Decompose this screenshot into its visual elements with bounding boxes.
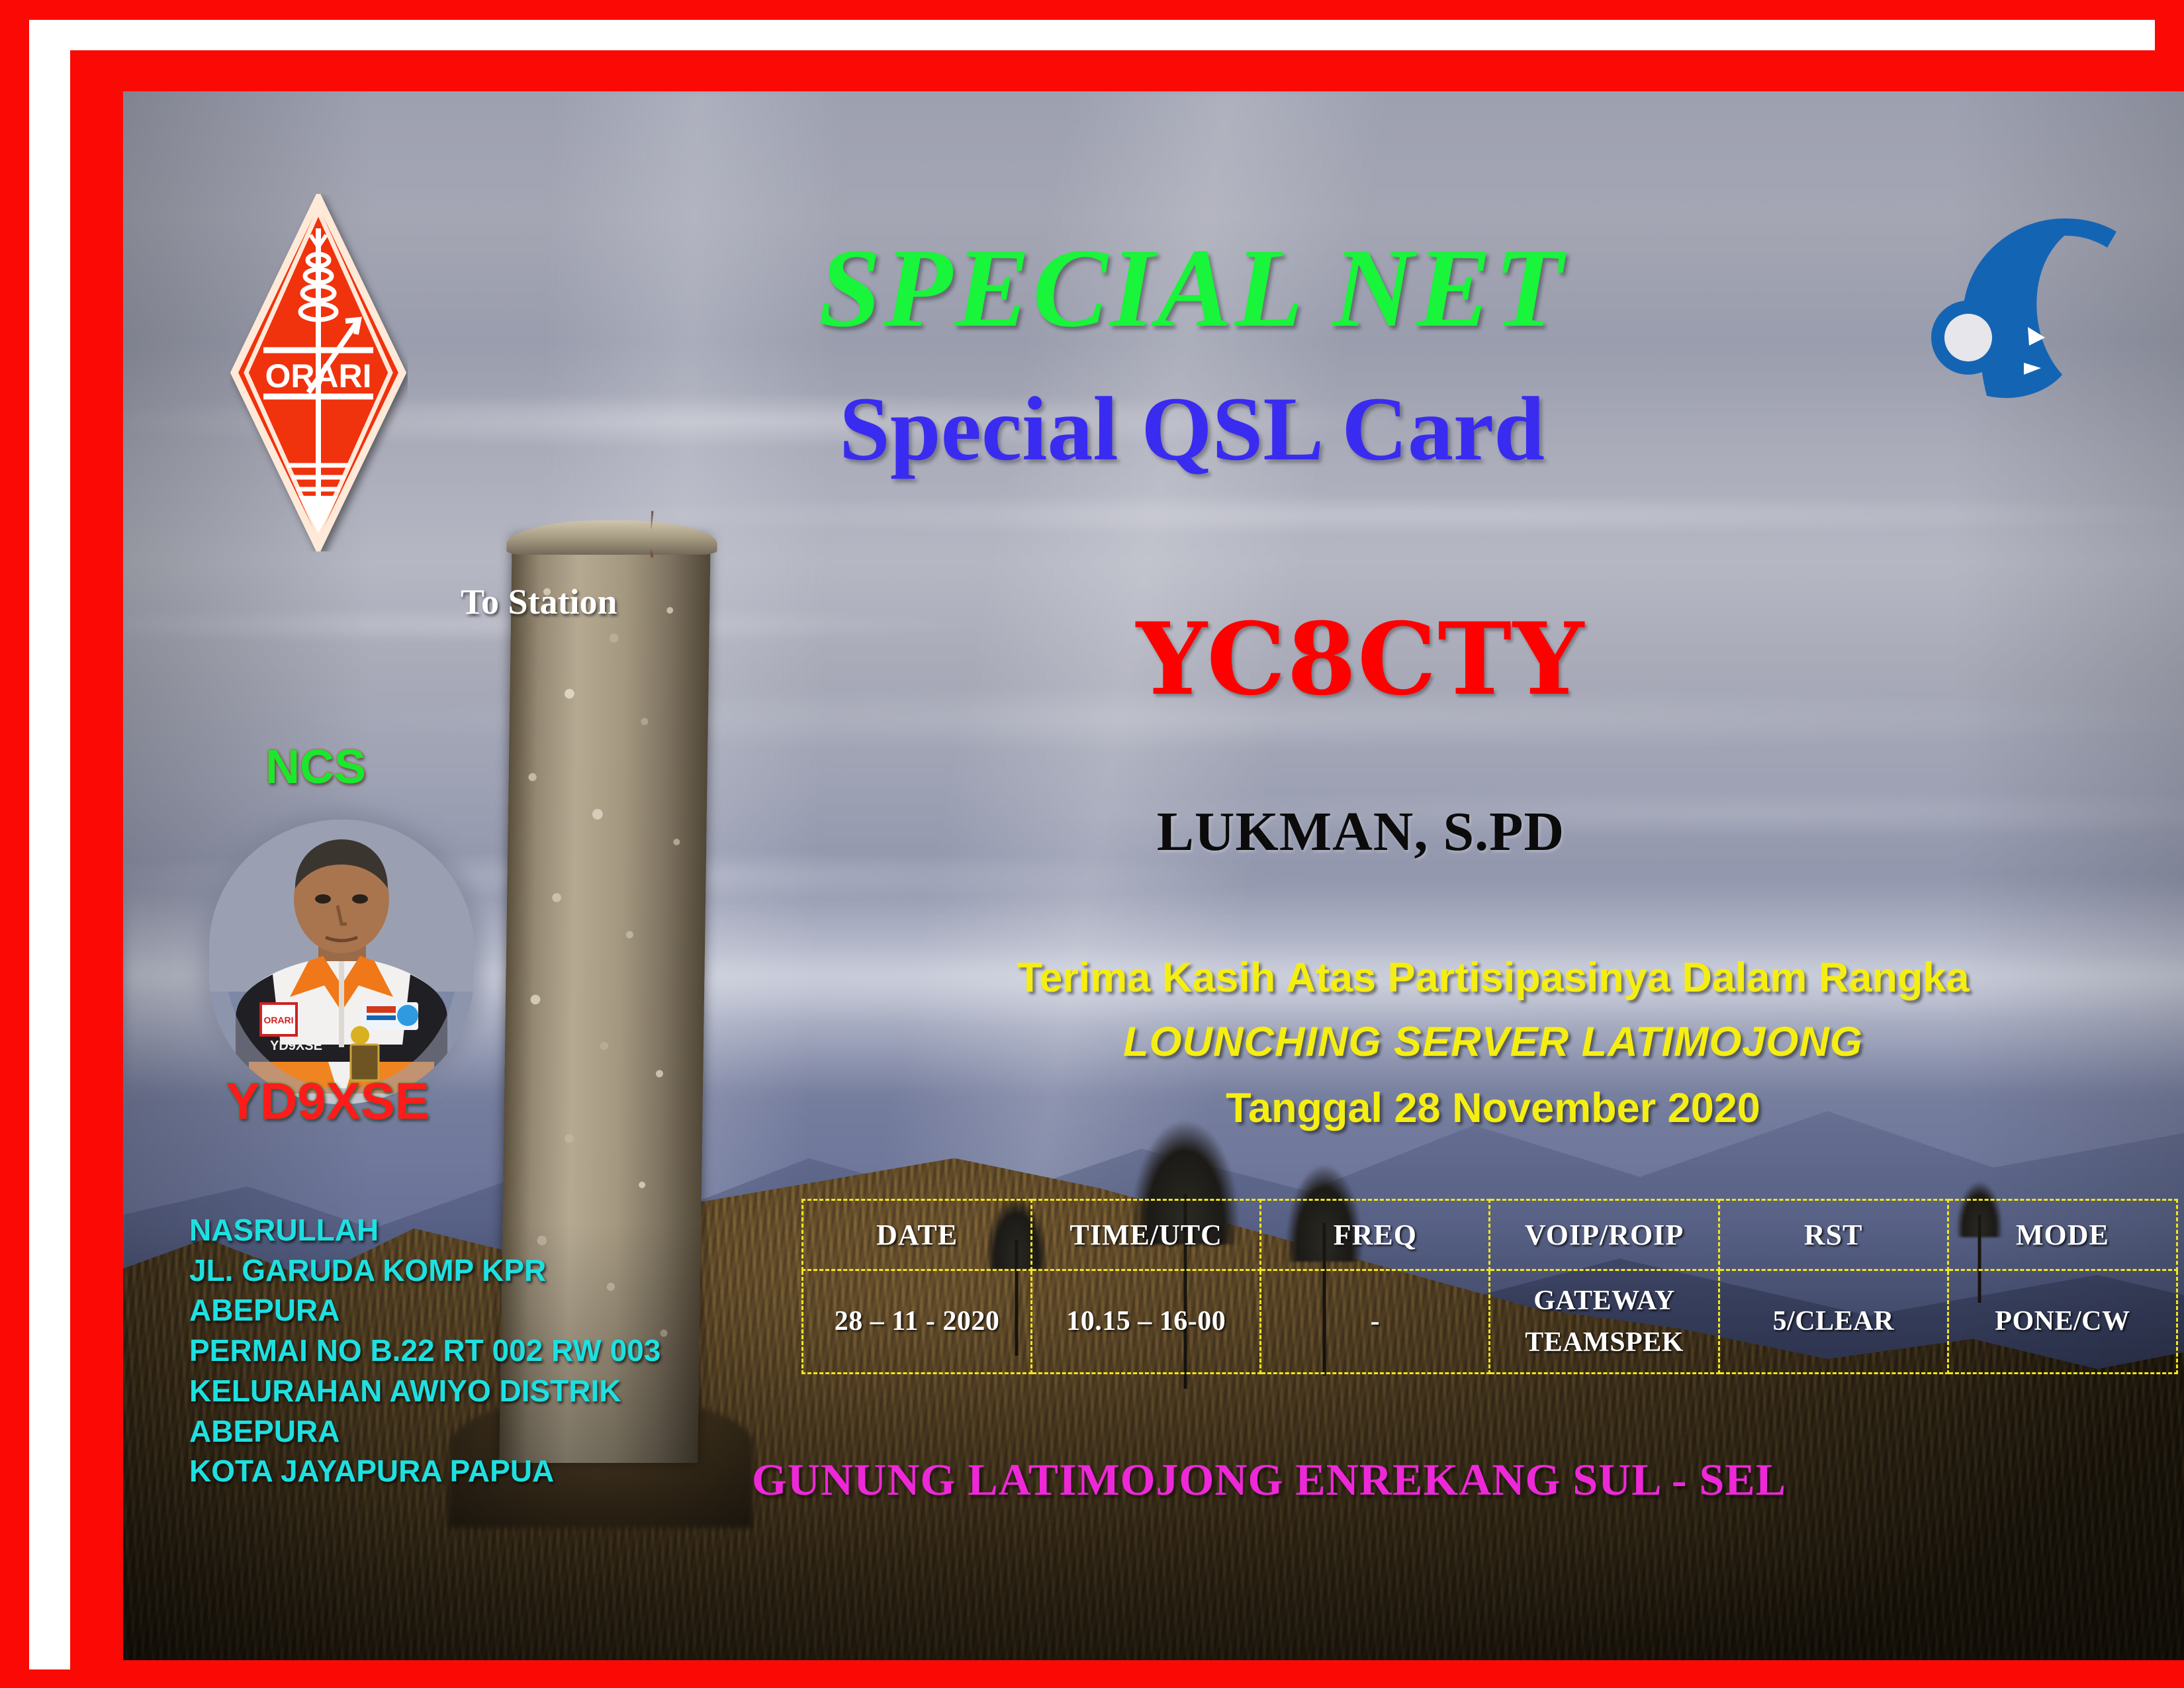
frame-white-gap: ORARI (29, 20, 2155, 1669)
address-line: JL. GARUDA KOMP KPR (189, 1250, 660, 1291)
cell-date: 28 – 11 - 2020 (803, 1270, 1032, 1374)
column-header-rst: RST (1719, 1200, 1948, 1270)
thanks-line-2: LOUNCHING SERVER LATIMOJONG (864, 1018, 2122, 1066)
address-line: PERMAI NO B.22 RT 002 RW 003 (189, 1331, 660, 1371)
shirt-callsign-badge: YD9XSE (270, 1039, 322, 1053)
svg-text:ORARI: ORARI (263, 1015, 293, 1025)
orari-logo: ORARI (229, 194, 408, 551)
cell-rst: 5/CLEAR (1719, 1270, 1948, 1374)
headset-profile-logo (1923, 197, 2184, 442)
cell-freq: - (1261, 1270, 1490, 1374)
ncs-callsign: YD9XSE (226, 1071, 430, 1131)
page-title-special-net: SPECIAL NET (533, 224, 1850, 353)
ncs-label: NCS (265, 740, 366, 794)
address-line: KOTA JAYAPURA PAPUA (189, 1451, 660, 1491)
table-row: 28 – 11 - 2020 10.15 – 16-00 - GATEWAY T… (803, 1270, 2177, 1374)
station-callsign: YC8CTY (964, 601, 1758, 718)
column-header-date: DATE (803, 1200, 1032, 1270)
cell-time: 10.15 – 16-00 (1032, 1270, 1261, 1374)
page-subtitle-qsl-card: Special QSL Card (533, 376, 1850, 481)
thanks-line-1: Terima Kasih Atas Partisipasinya Dalam R… (864, 954, 2122, 1002)
address-line: KELURAHAN AWIYO DISTRIK (189, 1371, 660, 1411)
thanks-line-3: Tanggal 28 November 2020 (864, 1084, 2122, 1132)
column-header-mode: MODE (1948, 1200, 2177, 1270)
qsl-card-frame: ORARI (0, 0, 2184, 1688)
column-header-freq: FREQ (1261, 1200, 1490, 1270)
address-line: NASRULLAH (189, 1210, 660, 1250)
column-header-voip-roip: VOIP/ROIP (1490, 1200, 1719, 1270)
to-station-label: To Station (461, 581, 617, 622)
qso-log-table: DATE TIME/UTC FREQ VOIP/ROIP RST MODE 28… (801, 1199, 2178, 1374)
address-block: NASRULLAH JL. GARUDA KOMP KPR ABEPURA PE… (189, 1210, 660, 1491)
card-photo-area: ORARI (123, 91, 2184, 1660)
operator-name: LUKMAN, S.PD (964, 800, 1758, 864)
column-header-time: TIME/UTC (1032, 1200, 1261, 1270)
address-line: ABEPURA (189, 1411, 660, 1452)
frame-inner-red-band: ORARI (70, 50, 2172, 1677)
table-header-row: DATE TIME/UTC FREQ VOIP/ROIP RST MODE (803, 1200, 2177, 1270)
orari-wordmark: ORARI (265, 357, 371, 395)
location-line: GUNUNG LATIMOJONG ENREKANG SUL - SEL (752, 1454, 2009, 1506)
address-line: ABEPURA (189, 1290, 660, 1331)
cell-mode: PONE/CW (1948, 1270, 2177, 1374)
cell-voip-roip: GATEWAY TEAMSPEK (1490, 1270, 1719, 1374)
ncs-operator-avatar: ORARI YD9XSE (209, 820, 474, 1104)
